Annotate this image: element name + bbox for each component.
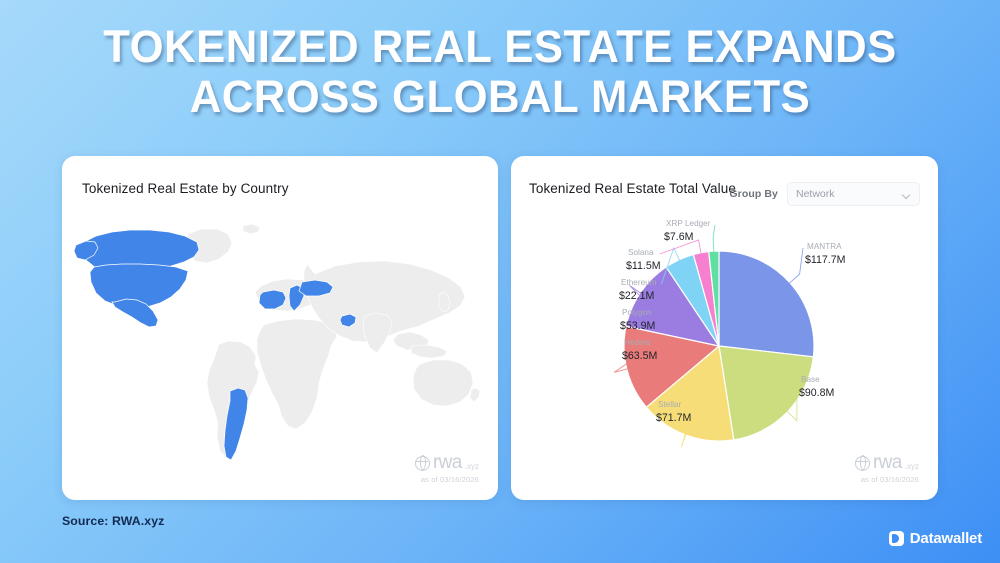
pie-card: Tokenized Real Estate Total Value Group … (511, 156, 938, 500)
map-as-of-date: as of 03/16/2026 (415, 475, 479, 484)
pie-leader-line (713, 225, 715, 253)
chevron-down-icon (903, 192, 910, 196)
pie-label-name: Polygon (622, 308, 652, 317)
pie-label-name: Stellar (658, 400, 681, 409)
map-watermark: rwa .xyz as of 03/16/2026 (415, 452, 479, 484)
pie-label-value: $22.1M (619, 290, 654, 302)
pie-as-of-date: as of 03/16/2026 (855, 475, 919, 484)
pie-leader-line (788, 248, 803, 284)
pie-chart[interactable]: MANTRA$117.7MBase$90.8MStellar$71.7MHede… (511, 202, 938, 487)
title-line-2: ACROSS GLOBAL MARKETS (15, 72, 985, 122)
pie-label-name: MANTRA (807, 242, 842, 251)
pie-label-value: $53.9M (620, 320, 655, 332)
datawallet-logo: Datawallet (889, 530, 982, 547)
title-line-1: TOKENIZED REAL ESTATE EXPANDS (15, 22, 985, 72)
globe-icon (415, 456, 430, 471)
pie-label-name: XRP Ledger (666, 219, 711, 228)
source-note: Source: RWA.xyz (62, 514, 164, 528)
group-by-value: Network (796, 188, 835, 200)
pie-label-value: $117.7M (805, 254, 845, 266)
country-turkey (299, 280, 333, 296)
world-map[interactable] (68, 212, 492, 462)
pie-label-name: Ethereum (621, 278, 657, 287)
pie-slice[interactable] (719, 251, 814, 357)
rwa-wordmark: rwa (873, 452, 902, 474)
pie-card-title: Tokenized Real Estate Total Value (529, 180, 744, 198)
pie-label-name: Hedera (624, 338, 651, 347)
datawallet-mark-icon (889, 531, 904, 546)
slide-canvas: TOKENIZED REAL ESTATE EXPANDS ACROSS GLO… (0, 0, 1000, 563)
dashboard-cards: Tokenized Real Estate by Country (62, 156, 938, 500)
page-title: TOKENIZED REAL ESTATE EXPANDS ACROSS GLO… (0, 22, 1000, 122)
rwa-suffix: .xyz (905, 462, 919, 474)
pie-label-value: $11.5M (626, 260, 661, 272)
pie-label-value: $90.8M (799, 387, 834, 399)
globe-icon (855, 456, 870, 471)
rwa-suffix: .xyz (465, 462, 479, 474)
map-card-title: Tokenized Real Estate by Country (82, 180, 289, 198)
group-by-label: Group By (729, 188, 778, 200)
datawallet-wordmark: Datawallet (910, 530, 982, 547)
rwa-wordmark: rwa (433, 452, 462, 474)
pie-label-name: Solana (628, 248, 654, 257)
pie-watermark: rwa .xyz as of 03/16/2026 (855, 452, 919, 484)
map-card: Tokenized Real Estate by Country (62, 156, 498, 500)
pie-label-value: $71.7M (656, 412, 691, 424)
pie-label-value: $63.5M (622, 350, 657, 362)
pie-label-value: $7.6M (664, 231, 693, 243)
pie-label-name: Base (801, 375, 820, 384)
